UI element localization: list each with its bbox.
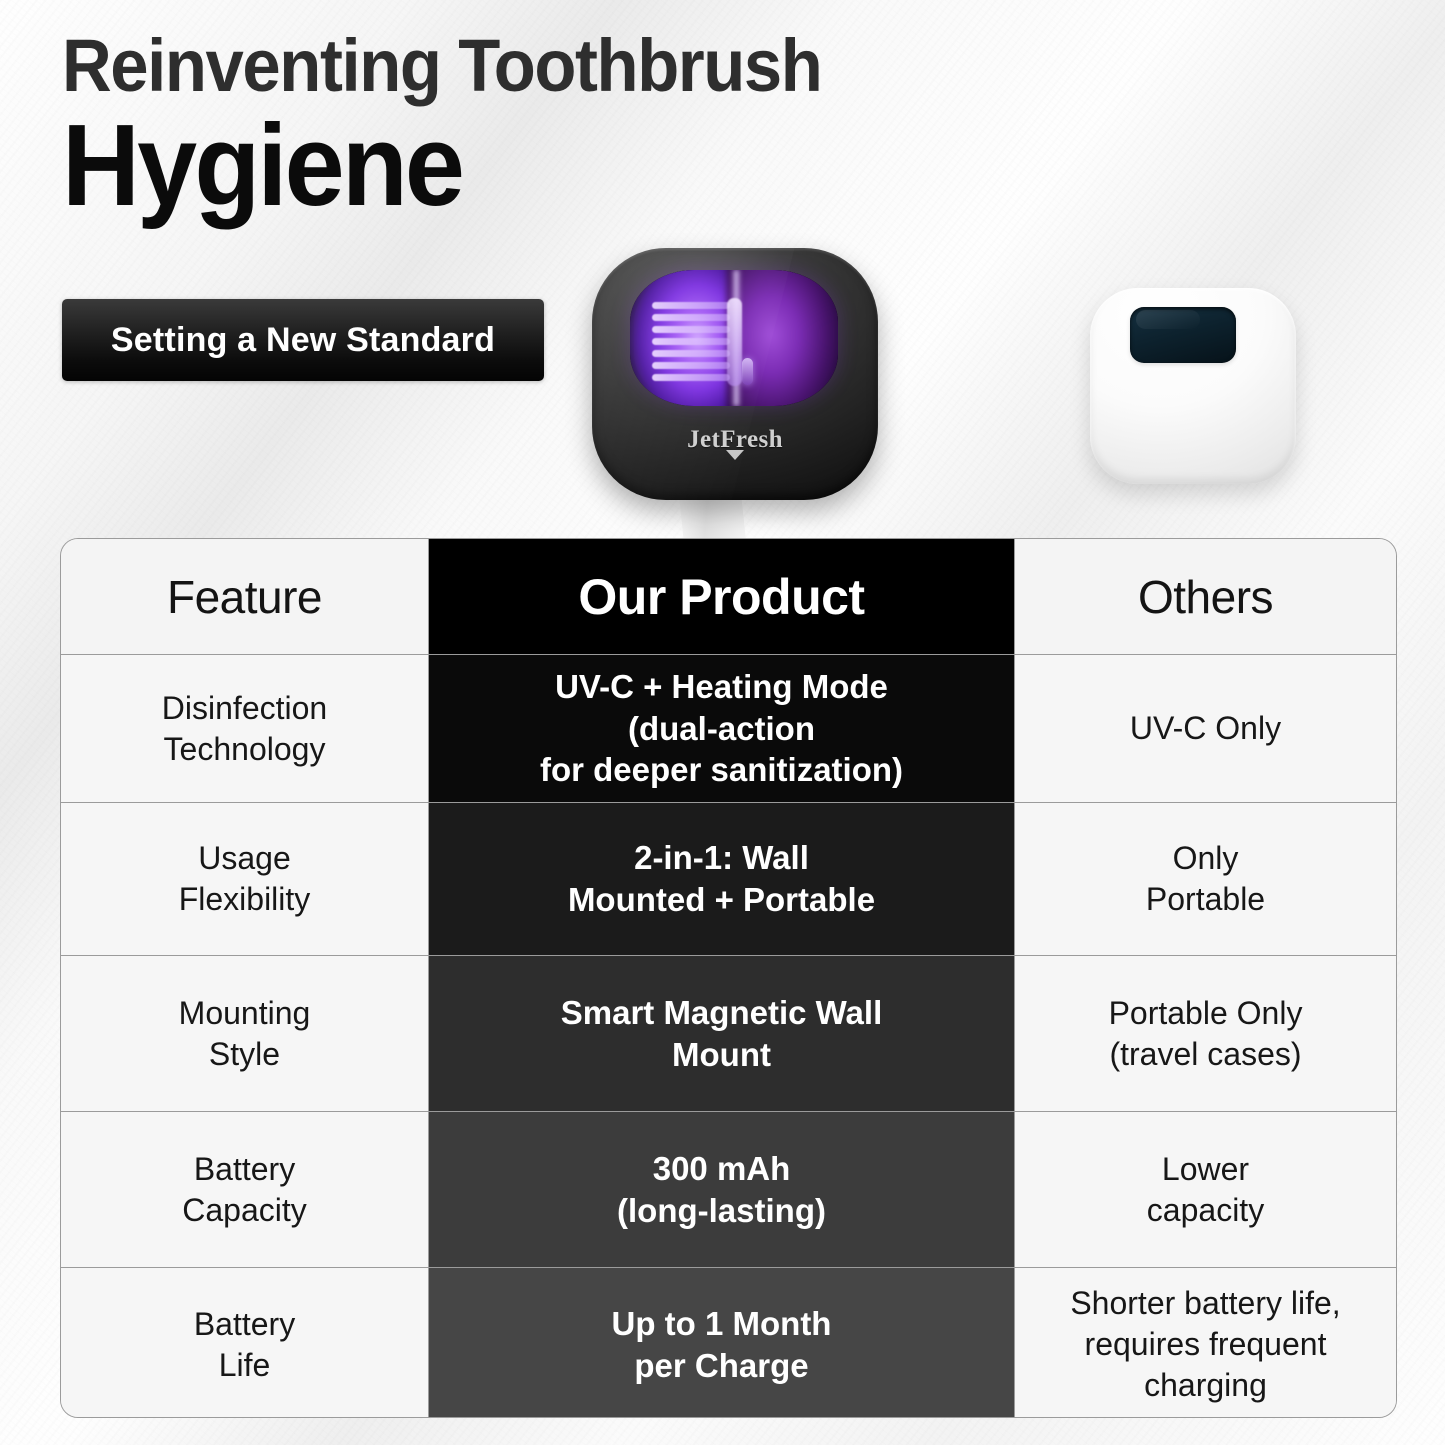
brand-name: JetFresh — [687, 426, 783, 453]
bristle-row — [652, 302, 730, 309]
headline-block: Reinventing Toothbrush Hygiene — [62, 28, 1062, 223]
cell-feature: Mounting Style — [61, 956, 429, 1111]
column-header-our-product: Our Product — [429, 539, 1014, 654]
table-row: Disinfection Technology UV-C + Heating M… — [61, 655, 1396, 803]
toothbrush-spine — [727, 298, 742, 386]
headline-line-2: Hygiene — [62, 107, 992, 223]
cell-others: Portable Only (travel cases) — [1014, 956, 1396, 1111]
brand-mark: JetFresh — [592, 426, 878, 460]
table-row: Battery Life Up to 1 Month per Charge Sh… — [61, 1268, 1396, 1418]
table-row: Battery Capacity 300 mAh (long-lasting) … — [61, 1112, 1396, 1268]
bristle-row — [652, 350, 730, 357]
uv-glow-right — [726, 270, 838, 406]
cell-our-product: 2-in-1: Wall Mounted + Portable — [429, 803, 1014, 955]
column-header-feature: Feature — [61, 539, 429, 654]
cell-our-product: UV-C + Heating Mode (dual-action for dee… — [429, 655, 1014, 802]
bristle-row — [652, 374, 730, 381]
cell-others: Shorter battery life, requires frequent … — [1014, 1268, 1396, 1418]
cell-feature: Battery Life — [61, 1268, 429, 1418]
led-indicator-icon — [742, 358, 753, 385]
tagline-badge-label: Setting a New Standard — [111, 321, 495, 360]
table-row: Usage Flexibility 2-in-1: Wall Mounted +… — [61, 803, 1396, 956]
bristle-row — [652, 362, 730, 369]
cell-feature: Disinfection Technology — [61, 655, 429, 802]
product-image-competitor — [1090, 288, 1296, 484]
competitor-screen — [1130, 307, 1236, 363]
cell-feature: Battery Capacity — [61, 1112, 429, 1267]
bristle-row — [652, 314, 730, 321]
table-header-row: Feature Our Product Others — [61, 539, 1396, 655]
cell-others: UV-C Only — [1014, 655, 1396, 802]
cell-others: Lower capacity — [1014, 1112, 1396, 1267]
infographic-page: Reinventing Toothbrush Hygiene Setting a… — [0, 0, 1445, 1445]
bristle-row — [652, 326, 730, 333]
toothbrush-head — [652, 300, 736, 382]
cell-feature: Usage Flexibility — [61, 803, 429, 955]
table-row: Mounting Style Smart Magnetic Wall Mount… — [61, 956, 1396, 1112]
tagline-badge: Setting a New Standard — [62, 299, 544, 381]
column-header-others: Others — [1014, 539, 1396, 654]
product-image-main: JetFresh — [592, 248, 878, 538]
cell-others: Only Portable — [1014, 803, 1396, 955]
cell-our-product: 300 mAh (long-lasting) — [429, 1112, 1014, 1267]
cell-our-product: Smart Magnetic Wall Mount — [429, 956, 1014, 1111]
headline-line-1: Reinventing Toothbrush — [62, 28, 992, 103]
cell-our-product: Up to 1 Month per Charge — [429, 1268, 1014, 1418]
bristle-row — [652, 338, 730, 345]
uv-window — [630, 270, 838, 406]
comparison-table: Feature Our Product Others Disinfection … — [60, 538, 1397, 1418]
product-body-black: JetFresh — [592, 248, 878, 500]
